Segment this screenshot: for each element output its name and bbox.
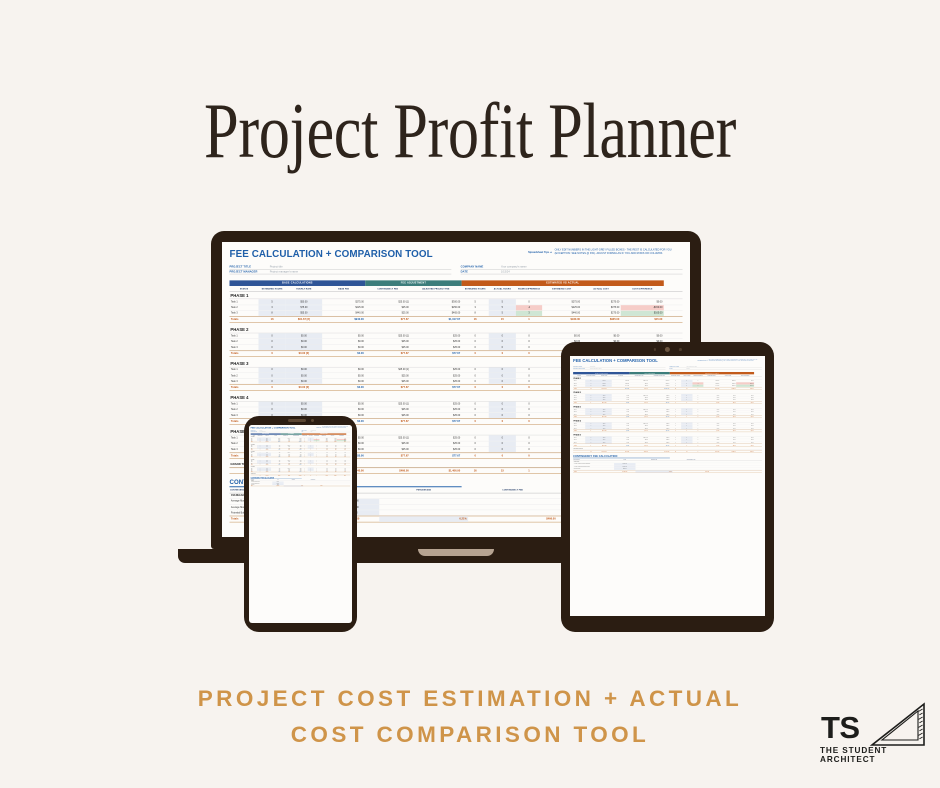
cell-cont_fee[interactable]: $25.00 [1] [365, 333, 410, 338]
cell-rate[interactable]: $0.00 [286, 373, 323, 378]
cell-cost_diff[interactable]: -$150.00 [621, 305, 664, 310]
cell-status[interactable]: Task 2 [229, 305, 258, 310]
cell-base_fee[interactable]: $0.00 [322, 339, 365, 344]
totals-cell: $77.67 [648, 444, 669, 446]
tablet-body: FEE CALCULATION + COMPARISON TOOLSpreads… [561, 342, 774, 632]
meta-value[interactable]: Your company's name [501, 266, 683, 269]
cell-hours_diff[interactable]: 0 [516, 435, 542, 440]
meta-value[interactable]: 1/15/24 [501, 271, 683, 274]
totals-row: Totals16$61.67 [2]$940.00$77.67$1,017.67… [573, 387, 762, 390]
cell-adj_fee[interactable]: $25.00 [410, 413, 461, 418]
totals-cell: $0.00 [271, 464, 280, 465]
cell-hours_diff[interactable]: 0 [516, 413, 542, 418]
cell-est_hours2[interactable]: 0 [462, 407, 489, 412]
grand-total-cell: $1,406.00 [290, 475, 301, 476]
contingency-cell-fee[interactable] [468, 510, 557, 515]
table-row[interactable]: Task 38$55.00$440.00$25.00$465.00853$440… [229, 311, 682, 317]
cell-cost_diff[interactable]: $165.00 [621, 311, 664, 316]
cell-hours_diff[interactable]: 0 [516, 401, 542, 406]
cell-est_hours2[interactable]: 0 [462, 379, 489, 384]
contingency-column-header: PERCENTAGE [379, 487, 468, 492]
cell-base_fee[interactable]: $0.00 [322, 367, 365, 372]
totals-row: Totals0$0.00 [2]$0.00$77.67$77.67000$0.0… [573, 444, 762, 447]
cell-hours_diff[interactable]: 0 [516, 441, 542, 446]
cell-cont_fee[interactable]: $25.00 [365, 373, 410, 378]
totals-cell: $77.67 [630, 416, 649, 418]
totals-cell: $0.00 [319, 471, 328, 472]
totals-cell: Totals [573, 401, 585, 403]
contingency-cell-pct[interactable] [379, 510, 468, 515]
cell-adj_fee[interactable]: $25.00 [410, 333, 461, 338]
cell-act_hours[interactable]: 5 [489, 299, 516, 304]
grand-total-cell: 16 [670, 450, 681, 452]
cell-hours_diff[interactable]: 3 [516, 311, 542, 316]
brand-logo: TS THE STUDENT ARCHITECT [818, 702, 930, 764]
cell-est_hours[interactable]: 0 [259, 333, 286, 338]
grand-total-cell: 16 [585, 450, 596, 452]
grand-total-cell: $940.00 [612, 450, 630, 452]
totals-cell: $0.00 [2] [263, 449, 271, 450]
column-header: HOURLY RATE [597, 374, 612, 376]
grand-total-cell: $61.67 [2] [597, 450, 612, 452]
totals-row: Totals0$0.00 [2]$0.00$77.67$77.67000$0.0… [573, 430, 762, 433]
cell-status[interactable]: Task 3 [229, 379, 258, 384]
cell-est_cost[interactable]: $225.00 [542, 305, 581, 310]
tablet-screen: FEE CALCULATION + COMPARISON TOOLSpreads… [570, 356, 765, 616]
page-subtitle: PROJECT COST ESTIMATION + ACTUAL COST CO… [0, 681, 940, 754]
phase-label: PHASE 4 [229, 394, 248, 401]
cell-rate[interactable]: $0.00 [286, 407, 323, 412]
column-header: ADJUSTED PROJECT FEE [648, 374, 669, 376]
cell-hours_diff[interactable]: 0 [516, 379, 542, 384]
totals-cell: $77.67 [630, 430, 649, 432]
grand-total-cell: $925.00 [720, 450, 736, 452]
totals-cell: 0 [692, 430, 703, 432]
cell-est_hours2[interactable]: 5 [462, 299, 489, 304]
cell-act_hours[interactable]: 0 [489, 379, 516, 384]
tips-label: Spreadsheet Tips ➔ [698, 359, 708, 361]
page-title: Project Profit Planner [94, 92, 846, 170]
cell-cont_fee[interactable]: $25.00 [365, 305, 410, 310]
tips-text: ONLY EDIT NUMBERS IN THE LIGHT GREY FILL… [322, 426, 350, 428]
cell-hours_diff[interactable]: 0 [516, 373, 542, 378]
spreadsheet-phone[interactable]: FEE CALCULATION + COMPARISON TOOLSpreads… [249, 425, 352, 488]
cell-est_hours[interactable]: 0 [259, 345, 286, 350]
contingency-totals-row: Totals$7,500.006.21%$466.00 [251, 485, 351, 486]
cell-act_hours[interactable]: 0 [489, 367, 516, 372]
totals-row: Totals16$61.67 [2]$940.00$77.67$1,017.67… [251, 441, 351, 442]
contingency-total-cell: 6.21% [379, 516, 468, 521]
phase-header: PHASE 1 [229, 292, 682, 299]
column-header: CONTINGENCY FEE [365, 286, 410, 291]
cell-est_hours[interactable]: 0 [259, 339, 286, 344]
totals-cell: $77.67 [410, 419, 461, 424]
cell-est_hours[interactable]: 8 [259, 311, 286, 316]
totals-cell: $0.00 [2] [286, 351, 323, 356]
cell-status[interactable]: Task 3 [229, 311, 258, 316]
grand-total-cell: $15.00 [337, 475, 346, 476]
cell-act_cost[interactable]: $275.00 [581, 299, 620, 304]
cell-rate[interactable]: $55.00 [286, 311, 323, 316]
cell-status[interactable]: Task 2 [229, 339, 258, 344]
phase-label: PHASE 1 [229, 292, 248, 299]
totals-cell: $0.00 [2] [597, 444, 612, 446]
totals-cell: 0 [489, 351, 516, 356]
meta-key: DATE [302, 431, 310, 432]
cell-cont_fee[interactable]: $25.00 [1] [365, 299, 410, 304]
totals-cell: $0.00 [271, 456, 280, 457]
totals-cell: $77.67 [290, 449, 301, 450]
cell-rate[interactable]: $0.00 [286, 333, 323, 338]
contingency-column-header: CONTINGENCY FEE [468, 487, 557, 492]
cell-cont_fee[interactable]: $25.00 [365, 379, 410, 384]
totals-cell: $0.00 [271, 471, 280, 472]
phone-screen: FEE CALCULATION + COMPARISON TOOLSpreads… [249, 425, 352, 623]
cell-act_hours[interactable]: 0 [489, 435, 516, 440]
cell-status[interactable]: Task 1 [229, 299, 258, 304]
totals-cell: 0 [692, 401, 703, 403]
meta-value[interactable]: Project manager's name [260, 431, 300, 432]
meta-value[interactable]: 1/15/24 [310, 431, 350, 432]
totals-cell: $0.00 [328, 456, 337, 457]
project-meta: PROJECT TITLEProject titlePROJECT MANAGE… [251, 430, 351, 432]
column-header: HOURLY RATE [286, 286, 323, 291]
column-header: ESTIMATED COST [542, 286, 581, 291]
spreadsheet-header: FEE CALCULATION + COMPARISON TOOLSpreads… [251, 426, 351, 428]
totals-cell: $77.67 [648, 401, 669, 403]
grand-total-cell: $1,406.00 [410, 468, 461, 473]
totals-cell: $925.00 [328, 441, 337, 442]
totals-cell: 0 [670, 430, 681, 432]
contingency-column-header: PERCENTAGE [636, 458, 673, 460]
totals-cell: $0.00 [319, 449, 328, 450]
cell-adj_fee[interactable]: $465.00 [410, 311, 461, 316]
totals-cell: $0.00 [2] [263, 471, 271, 472]
totals-cell: $0.00 [328, 471, 337, 472]
cell-act_hours[interactable]: 0 [489, 413, 516, 418]
cell-est_hours[interactable]: 5 [259, 299, 286, 304]
cell-est_hours[interactable]: 0 [259, 367, 286, 372]
cell-adj_fee[interactable]: $25.00 [410, 435, 461, 440]
cell-hours_diff[interactable]: 0 [516, 447, 542, 452]
meta-key: PROJECT MANAGER [573, 368, 588, 369]
column-header: ESTIMATED COST [703, 374, 719, 376]
cell-cont_fee[interactable]: $25.00 [365, 311, 410, 316]
cell-est_hours[interactable]: 3 [259, 305, 286, 310]
cell-rate[interactable]: $0.00 [286, 345, 323, 350]
cell-base_fee[interactable]: $0.00 [322, 407, 365, 412]
totals-cell: 16 [259, 317, 286, 322]
grand-total-cell: $466.00 [365, 468, 410, 473]
cell-act_cost[interactable]: $275.00 [581, 311, 620, 316]
contingency-cell-pct[interactable] [379, 505, 468, 510]
totals-cell: 0 [585, 416, 596, 418]
totals-cell: $0.00 [703, 416, 719, 418]
meta-key: DATE [669, 368, 684, 369]
cell-est_hours2[interactable]: 0 [462, 401, 489, 406]
cell-adj_fee[interactable]: $25.00 [410, 441, 461, 446]
totals-cell: $0.00 [736, 430, 754, 432]
cell-cont_fee[interactable]: $25.00 [365, 413, 410, 418]
cell-est_hours2[interactable]: 0 [462, 367, 489, 372]
tips-label: Spreadsheet Tips ➔ [316, 426, 321, 427]
totals-cell: 0 [516, 453, 542, 458]
cell-rate[interactable]: $0.00 [286, 379, 323, 384]
cell-adj_fee[interactable]: $25.00 [410, 367, 461, 372]
column-header: ESTIMATED HOURS [462, 286, 489, 291]
cell-act_cost[interactable]: $375.00 [581, 305, 620, 310]
cell-base_fee[interactable]: $0.00 [322, 345, 365, 350]
totals-cell: $1,017.67 [290, 441, 301, 442]
totals-cell: $15.00 [337, 441, 346, 442]
subtitle-line-1: PROJECT COST ESTIMATION + ACTUAL [0, 681, 940, 717]
cell-hours_diff[interactable]: -2 [516, 305, 542, 310]
meta-value[interactable]: Project manager's name [270, 271, 452, 274]
spreadsheet-title: FEE CALCULATION + COMPARISON TOOL [251, 426, 296, 428]
totals-cell: $0.00 [2] [597, 401, 612, 403]
laptop-trackpad-notch [418, 549, 494, 556]
grand-total-cell: $61.67 [2] [263, 475, 271, 476]
cell-adj_fee[interactable]: $25.00 [410, 407, 461, 412]
cell-act_hours[interactable]: 5 [489, 311, 516, 316]
cell-status[interactable]: Task 2 [229, 373, 258, 378]
cell-est_hours2[interactable]: 0 [462, 345, 489, 350]
totals-cell: $0.00 [612, 401, 630, 403]
column-header: ACTUAL HOURS [489, 286, 516, 291]
contingency-cell-fee[interactable] [468, 499, 557, 504]
totals-cell: 0 [585, 430, 596, 432]
totals-cell: $0.00 [703, 430, 719, 432]
cell-est_hours2[interactable]: 0 [462, 447, 489, 452]
cell-act_hours[interactable]: 0 [489, 447, 516, 452]
totals-cell: $0.00 [736, 444, 754, 446]
meta-row: PROJECT MANAGERProject manager's name [251, 431, 300, 432]
totals-cell: $61.67 [2] [286, 317, 323, 322]
cell-cont_fee[interactable]: $25.00 [1] [365, 367, 410, 372]
spreadsheet-header: FEE CALCULATION + COMPARISON TOOLSpreads… [573, 359, 762, 364]
cell-hours_diff[interactable]: 0 [516, 333, 542, 338]
cell-act_hours[interactable]: 0 [489, 441, 516, 446]
cell-est_hours[interactable]: 0 [259, 401, 286, 406]
cell-hours_diff[interactable]: 0 [516, 407, 542, 412]
contingency-total-cell: Totals [573, 470, 614, 472]
phone-speaker-camera-icon [288, 419, 314, 422]
totals-cell: $0.00 [612, 416, 630, 418]
cell-base_fee[interactable]: $440.00 [322, 311, 365, 316]
cell-cont_fee[interactable]: $25.00 [1] [365, 435, 410, 440]
totals-row: Totals0$0.00 [2]$0.00$77.67$77.67000$0.0… [573, 415, 762, 418]
totals-cell: $0.00 [337, 464, 346, 465]
cell-est_hours2[interactable]: 0 [462, 441, 489, 446]
meta-right: COMPANY NAMEYour company's nameDATE1/15/… [302, 430, 351, 432]
totals-cell: 1 [692, 387, 703, 389]
meta-right: COMPANY NAMEYour company's nameDATE1/15/… [461, 265, 683, 274]
totals-cell: $77.67 [281, 449, 291, 450]
cell-est_hours2[interactable]: 0 [462, 333, 489, 338]
column-headers: STATUSESTIMATED HOURSHOURLY RATEBASE FEE… [573, 374, 762, 376]
meta-value[interactable]: Project manager's name [590, 368, 666, 369]
cell-cont_fee[interactable]: $25.00 [1] [365, 401, 410, 406]
tips-text: ONLY EDIT NUMBERS IN THE LIGHT GREY FILL… [709, 359, 762, 362]
cell-cost_diff[interactable]: $0.00 [621, 333, 664, 338]
cell-cont_fee[interactable]: $25.00 [365, 441, 410, 446]
cell-adj_fee[interactable]: $25.00 [410, 401, 461, 406]
cell-base_fee[interactable]: $225.00 [322, 305, 365, 310]
cell-rate[interactable]: $0.00 [286, 401, 323, 406]
cell-est_hours[interactable]: 0 [259, 373, 286, 378]
cell-base_fee[interactable]: $0.00 [322, 373, 365, 378]
totals-cell: 0 [462, 453, 489, 458]
logo-tagline: THE STUDENT ARCHITECT [820, 746, 930, 764]
cell-est_hours2[interactable]: 0 [462, 373, 489, 378]
cell-cont_fee[interactable]: $25.00 [365, 339, 410, 344]
totals-row: Totals0$0.00 [2]$0.00$77.67$77.67000$0.0… [251, 471, 351, 472]
cell-adj_fee[interactable]: $25.00 [410, 447, 461, 452]
cell-act_hours[interactable]: 0 [489, 333, 516, 338]
totals-cell: 1 [516, 317, 542, 322]
totals-cell: $77.67 [365, 419, 410, 424]
totals-row: Totals0$0.00 [2]$0.00$77.67$77.67000$0.0… [573, 401, 762, 404]
totals-cell: 0 [489, 419, 516, 424]
grand-total-cell: 15 [489, 468, 516, 473]
totals-cell: 0 [516, 385, 542, 390]
cell-est_cost[interactable]: $0.00 [542, 333, 581, 338]
meta-value[interactable]: Project title [270, 266, 452, 269]
totals-cell: $77.67 [410, 351, 461, 356]
cell-adj_fee[interactable]: $25.00 [410, 339, 461, 344]
contingency-column-header: COST [614, 458, 635, 460]
cell-base_fee[interactable]: $0.00 [322, 333, 365, 338]
cell-hours_diff[interactable]: 0 [516, 345, 542, 350]
tablet-camera-icon [653, 347, 681, 352]
column-header: ACTUAL COST [720, 374, 736, 376]
cell-est_hours2[interactable]: 0 [462, 413, 489, 418]
cell-status[interactable]: Task 1 [229, 367, 258, 372]
grand-total-cell [573, 450, 585, 452]
meta-value[interactable]: 1/15/24 [686, 368, 762, 369]
grand-total-cell: $940.00 [319, 475, 328, 476]
totals-cell: $940.00 [271, 441, 280, 442]
cell-est_hours2[interactable]: 0 [462, 435, 489, 440]
cell-hours_diff[interactable]: 0 [516, 299, 542, 304]
cell-est_cost[interactable]: $440.00 [542, 311, 581, 316]
column-header: ESTIMATED HOURS [670, 374, 681, 376]
cell-act_hours[interactable]: 0 [489, 339, 516, 344]
cell-act_hours[interactable]: 0 [489, 373, 516, 378]
totals-cell: $61.67 [2] [597, 387, 612, 389]
totals-cell: 0 [489, 385, 516, 390]
cell-est_cost[interactable]: $275.00 [542, 299, 581, 304]
contingency-total-cell: 6.21% [636, 470, 673, 472]
totals-cell: $0.00 [322, 351, 365, 356]
cell-rate[interactable]: $75.00 [286, 305, 323, 310]
cell-est_hours2[interactable]: 0 [462, 339, 489, 344]
cell-est_hours2[interactable]: 3 [462, 305, 489, 310]
cell-adj_fee[interactable]: $25.00 [410, 379, 461, 384]
totals-cell: $77.67 [281, 456, 291, 457]
totals-cell: 0 [259, 385, 286, 390]
cell-est_hours2[interactable]: 8 [462, 311, 489, 316]
column-header: ESTIMATED HOURS [585, 374, 596, 376]
column-header: ADJUSTED PROJECT FEE [290, 435, 301, 436]
cell-adj_fee[interactable]: $300.00 [410, 299, 461, 304]
spreadsheet-header: FEE CALCULATION + COMPARISON TOOLSpreads… [229, 249, 682, 260]
cell-cost_diff[interactable]: $0.00 [621, 299, 664, 304]
logo-monogram: TS [821, 710, 860, 746]
cell-adj_fee[interactable]: $25.00 [410, 345, 461, 350]
contingency-column-header: CONTINGENCY FEE [303, 479, 323, 480]
totals-cell: $0.00 [319, 456, 328, 457]
phase-label: PHASE 3 [229, 360, 248, 367]
cell-act_hours[interactable]: 0 [489, 345, 516, 350]
meta-key: DATE [461, 271, 498, 274]
cell-status[interactable]: Task 3 [229, 345, 258, 350]
totals-cell: 0 [670, 444, 681, 446]
totals-cell: $0.00 [322, 385, 365, 390]
spreadsheet-tablet[interactable]: FEE CALCULATION + COMPARISON TOOLSpreads… [570, 356, 765, 475]
cell-status[interactable]: Task 1 [229, 401, 258, 406]
spreadsheet-title: FEE CALCULATION + COMPARISON TOOL [229, 249, 432, 260]
totals-cell: 0 [692, 444, 703, 446]
tips-text: ONLY EDIT NUMBERS IN THE LIGHT GREY FILL… [555, 249, 683, 256]
cell-est_hours[interactable]: 0 [259, 379, 286, 384]
cell-act_hours[interactable]: 0 [489, 401, 516, 406]
column-header: CONTINGENCY FEE [281, 435, 291, 436]
cell-hours_diff[interactable]: 0 [516, 367, 542, 372]
totals-cell: Totals [573, 430, 585, 432]
cell-cont_fee[interactable]: $25.00 [365, 345, 410, 350]
contingency-cell-pct[interactable] [379, 499, 468, 504]
cell-cont_fee[interactable]: $25.00 [365, 407, 410, 412]
cell-rate[interactable]: $0.00 [286, 339, 323, 344]
totals-cell: $77.67 [281, 464, 291, 465]
column-headers: STATUSESTIMATED HOURSHOURLY RATEBASE FEE… [251, 435, 351, 436]
meta-row: PROJECT MANAGERProject manager's name [229, 270, 451, 275]
cell-hours_diff[interactable]: 0 [516, 339, 542, 344]
grand-total-cell: $466.00 [281, 475, 291, 476]
cell-adj_fee[interactable]: $25.00 [410, 373, 461, 378]
cell-base_fee[interactable]: $0.00 [322, 379, 365, 384]
cell-base_fee[interactable]: $275.00 [322, 299, 365, 304]
meta-row: DATE1/15/24 [461, 270, 683, 275]
column-header: BASE FEE [612, 374, 630, 376]
cell-est_hours[interactable]: 0 [259, 407, 286, 412]
totals-cell: $77.67 [410, 385, 461, 390]
column-headers: STATUSESTIMATED HOURSHOURLY RATEBASE FEE… [229, 286, 682, 292]
contingency-cell-fee[interactable] [468, 505, 557, 510]
meta-row: PROJECT MANAGERProject manager's name [573, 368, 665, 370]
cell-rate[interactable]: $50.00 [286, 299, 323, 304]
cell-cont_fee[interactable]: $25.00 [365, 447, 410, 452]
cell-act_hours[interactable]: 0 [489, 407, 516, 412]
totals-cell: $77.67 [290, 471, 301, 472]
cell-base_fee[interactable]: $0.00 [322, 401, 365, 406]
cell-adj_fee[interactable]: $250.00 [410, 305, 461, 310]
totals-cell: $77.67 [365, 317, 410, 322]
cell-act_cost[interactable]: $0.00 [581, 333, 620, 338]
totals-cell: $0.00 [337, 449, 346, 450]
cell-status[interactable]: Task 2 [229, 407, 258, 412]
totals-cell: $940.00 [319, 441, 328, 442]
cell-act_hours[interactable]: 5 [489, 305, 516, 310]
totals-cell: Totals [229, 385, 258, 390]
column-header: HOURS DIFFERENCE [692, 374, 703, 376]
totals-cell: $940.00 [322, 317, 365, 322]
grand-total-cell: 1 [692, 450, 703, 452]
cell-rate[interactable]: $0.00 [286, 367, 323, 372]
meta-row: DATE1/15/24 [302, 431, 351, 432]
cell-status[interactable]: Task 1 [229, 333, 258, 338]
